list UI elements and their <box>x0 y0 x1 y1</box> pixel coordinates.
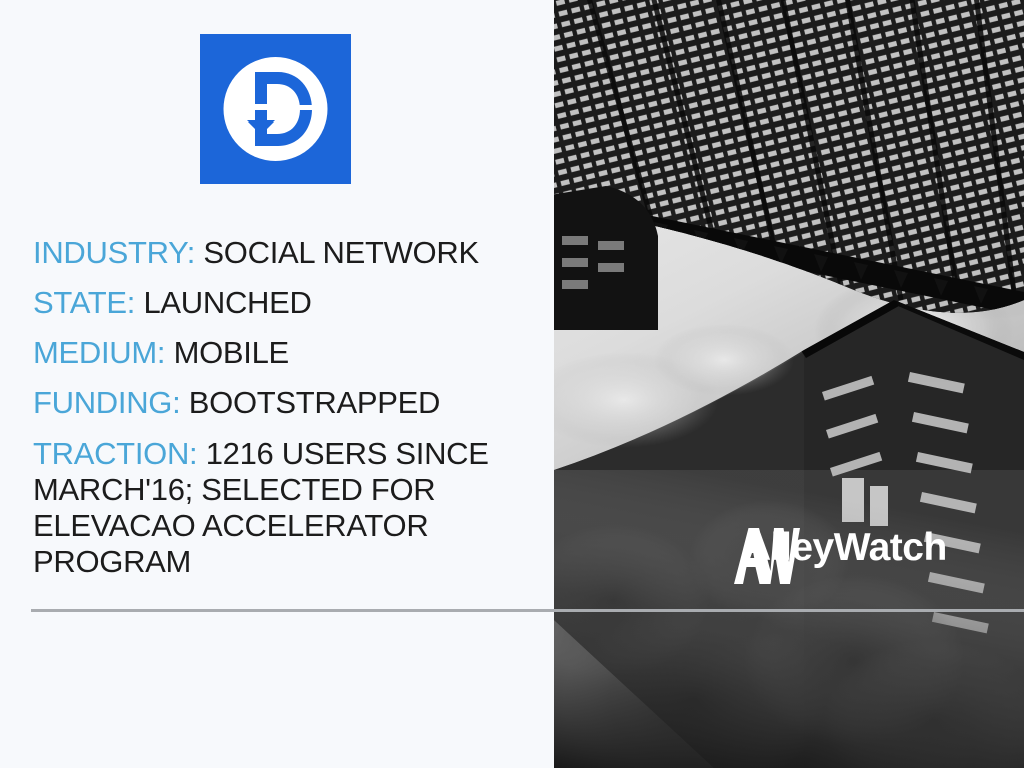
fact-value-funding: BOOTSTRAPPED <box>189 385 440 420</box>
fact-value-industry: SOCIAL NETWORK <box>203 235 478 270</box>
launched-in-the-alley-card: AlleyWatch INDUSTRY: SOCIAL NE <box>0 0 1024 768</box>
fact-label-medium: MEDIUM: <box>33 335 165 370</box>
fact-label-state: STATE: <box>33 285 135 320</box>
alleywatch-watermark: AlleyWatch <box>734 528 947 567</box>
skyscraper-photo <box>554 0 1024 768</box>
fact-value-state: LAUNCHED <box>143 285 311 320</box>
letter-d-download-arrow-icon <box>200 34 351 184</box>
alleywatch-monogram-icon <box>734 528 800 584</box>
fact-label-funding: FUNDING: <box>33 385 180 420</box>
company-logo <box>200 34 351 184</box>
info-panel: INDUSTRY: SOCIAL NETWORK STATE: LAUNCHED… <box>0 0 554 768</box>
fact-row-medium: MEDIUM: MOBILE <box>33 328 533 378</box>
fact-value-medium: MOBILE <box>174 335 289 370</box>
fact-row-traction: TRACTION: 1216 USERS SINCE MARCH'16; SEL… <box>33 436 511 580</box>
fact-row-industry: INDUSTRY: SOCIAL NETWORK <box>33 228 533 278</box>
fact-list: INDUSTRY: SOCIAL NETWORK STATE: LAUNCHED… <box>33 228 533 580</box>
fact-row-state: STATE: LAUNCHED <box>33 278 533 328</box>
fact-row-funding: FUNDING: BOOTSTRAPPED <box>33 378 533 428</box>
fact-label-industry: INDUSTRY: <box>33 235 195 270</box>
building-photo: AlleyWatch <box>554 0 1024 768</box>
fact-label-traction: TRACTION: <box>33 436 197 471</box>
headline-divider <box>31 609 1024 612</box>
